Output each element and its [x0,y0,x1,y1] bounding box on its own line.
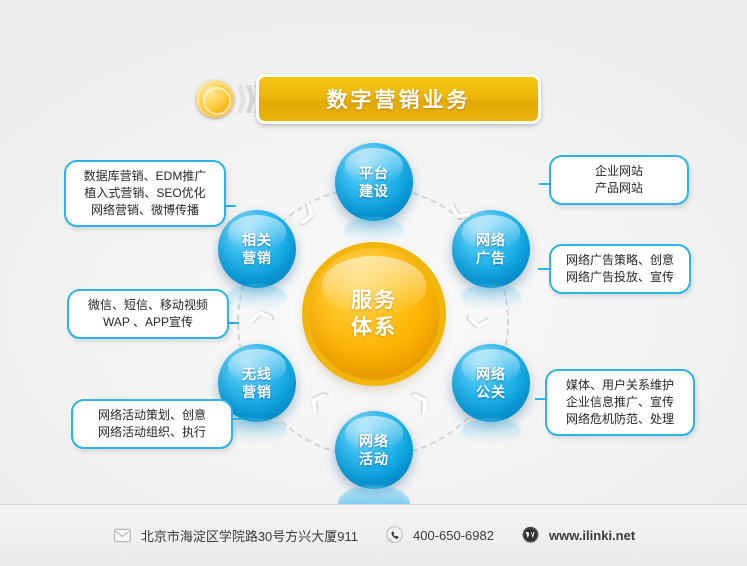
node-online-advertising[interactable]: 网络 广告 [452,210,530,288]
ring-arrow-icon: ❯ [468,312,493,335]
callout-line2: 网络广告投放、宣传 [560,269,680,286]
callout-line3: 网络营销、微博传播 [75,202,215,219]
footer-phone: 400-650-6982 [384,525,494,546]
node-label-line1: 网络 [476,365,506,383]
footer-website[interactable]: www.ilinki.net [520,525,635,546]
globe-icon [520,525,541,546]
footer-bar: 北京市海淀区学院路30号方兴大厦911 400-650-6982 www.ili… [0,504,747,566]
callout-line1: 企业网站 [560,163,678,180]
callout-line1: 网络广告策略、创意 [560,252,680,269]
callout-line1: 微信、短信、移动视频 [78,297,218,314]
node-label-line1: 网络 [476,231,506,249]
node-reflection [461,418,521,444]
footer-address: 北京市海淀区学院路30号方兴大厦911 [112,525,358,546]
bottom-glow [338,484,410,504]
callout-line2: 植入式营销、SEO优化 [75,185,215,202]
center-hub-service-system[interactable]: 服务 体系 [308,248,440,380]
node-label-line2: 营销 [242,249,272,267]
callout-line2: 产品网站 [560,180,678,197]
footer-address-text: 北京市海淀区学院路30号方兴大厦911 [141,526,358,545]
title-banner: 数字营销业务 [196,74,541,124]
callout-line2: 网络活动组织、执行 [82,424,222,441]
callout-online-activity: 网络活动策划、创意 网络活动组织、执行 [71,399,233,449]
callout-line2: 企业信息推广、宣传 [556,394,684,411]
node-label-line1: 无线 [242,365,272,383]
node-label-line2: 公关 [476,383,506,401]
callout-online-advertising: 网络广告策略、创意 网络广告投放、宣传 [549,244,691,294]
node-reflection [227,284,287,310]
callout-platform-construction: 企业网站 产品网站 [549,155,689,205]
callout-line1: 数据库营销、EDM推广 [75,168,215,185]
node-reflection [344,217,404,243]
node-label-line2: 活动 [359,450,389,468]
node-online-pr[interactable]: 网络 公关 [452,344,530,422]
center-hub-label-line2: 体系 [351,314,397,341]
node-label-line2: 营销 [242,383,272,401]
footer-phone-text: 400-650-6982 [413,528,494,543]
node-label-line1: 平台 [359,164,389,182]
node-online-activity[interactable]: 网络 活动 [335,411,413,489]
callout-related-marketing: 数据库营销、EDM推广 植入式营销、SEO优化 网络营销、微博传播 [64,160,226,227]
callout-line1: 媒体、用户关系维护 [556,377,684,394]
node-reflection [461,284,521,310]
phone-icon [384,525,405,546]
node-label-line1: 相关 [242,231,272,249]
callout-line3: 网络危机防范、处理 [556,411,684,428]
node-related-marketing[interactable]: 相关 营销 [218,210,296,288]
callout-online-pr: 媒体、用户关系维护 企业信息推广、宣传 网络危机防范、处理 [545,369,695,436]
slide-canvas: 数字营销业务 ❯ ❯ ❯ ❯ ❯ ❯ 服务 体系 平台 建设 网络 广告 网络 … [0,0,747,566]
footer-website-text[interactable]: www.ilinki.net [549,528,635,543]
node-label-line2: 建设 [359,182,389,200]
node-label-line2: 广告 [476,249,506,267]
center-hub-label-line1: 服务 [351,287,397,314]
callout-wireless-marketing: 微信、短信、移动视频 WAP 、APP宣传 [67,289,229,339]
node-label-line1: 网络 [359,432,389,450]
title-plate: 数字营销业务 [256,74,541,124]
callout-line1: 网络活动策划、创意 [82,407,222,424]
gold-coin-icon [196,80,234,118]
envelope-icon [112,525,133,546]
node-platform-construction[interactable]: 平台 建设 [335,143,413,221]
node-reflection [227,418,287,444]
callout-line2: WAP 、APP宣传 [78,314,218,331]
page-title: 数字营销业务 [327,84,471,114]
